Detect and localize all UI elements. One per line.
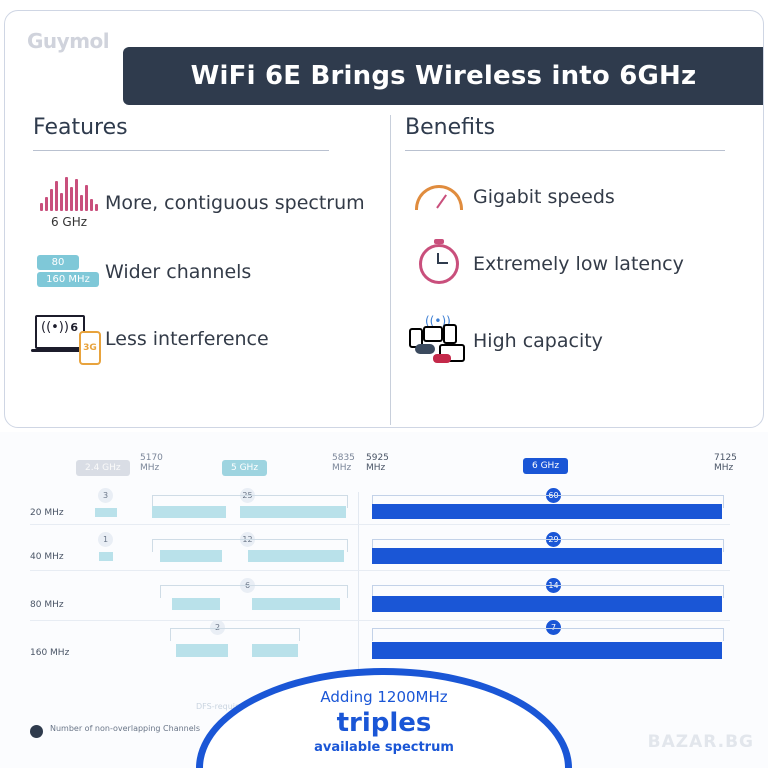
band-block-5a-80 xyxy=(172,598,220,610)
bracket-5ghz-80 xyxy=(160,585,348,598)
multi-device-icon: ((•)) xyxy=(405,318,473,364)
channel-chips: 80 160 MHz xyxy=(37,255,101,289)
band-block-24-20 xyxy=(95,508,117,517)
callout-line3: available spectrum xyxy=(196,740,572,755)
smartphone-orange-icon xyxy=(443,324,457,344)
stopwatch-icon xyxy=(405,244,473,284)
channel-width-icon: 80 160 MHz xyxy=(33,255,105,289)
feature-row-interference: ((•)) 6 3G Less interference xyxy=(33,315,373,363)
multi-device-glyph: ((•)) xyxy=(409,318,469,364)
bracket-6ghz-160 xyxy=(372,628,724,641)
legend-dot-icon xyxy=(30,725,43,738)
tablet-icon xyxy=(423,326,443,342)
gamepad-icon xyxy=(433,354,451,363)
benefits-column: Benefits Gigabit speeds Extremely low la… xyxy=(405,115,745,364)
band-block-5b-20 xyxy=(240,506,346,518)
phone-icon: 3G xyxy=(79,331,101,365)
band-block-6-20 xyxy=(372,504,722,519)
feature-label-channels: Wider channels xyxy=(105,261,251,284)
features-heading: Features xyxy=(33,115,329,151)
row-divider-3 xyxy=(30,620,730,621)
freq-mark-5170: 5170MHz xyxy=(140,454,163,474)
benefit-label-capacity: High capacity xyxy=(473,330,603,353)
watermark-bottom: BAZAR.BG xyxy=(648,732,754,752)
features-column: Features 6 GHz More, contiguous spectrum… xyxy=(33,115,373,363)
card-title-bar: WiFi 6E Brings Wireless into 6GHz xyxy=(123,47,764,105)
feature-label-interference: Less interference xyxy=(105,328,269,351)
row-divider-2 xyxy=(30,570,730,571)
band-block-24-40 xyxy=(99,552,113,561)
laptop-phone-interference-icon: ((•)) 6 3G xyxy=(33,315,105,363)
benefit-row-speed: Gigabit speeds xyxy=(405,185,745,210)
chart-legend: Number of non-overlapping Channels xyxy=(30,724,200,738)
spectrum-bars-glyph xyxy=(40,177,98,211)
row-label-160mhz: 160 MHz xyxy=(30,648,69,658)
benefit-row-capacity: ((•)) High capacity xyxy=(405,318,745,364)
row-divider-1 xyxy=(30,524,730,525)
count-badge-24-40: 1 xyxy=(98,532,113,547)
band-block-5b-80 xyxy=(252,598,340,610)
row-label-40mhz: 40 MHz xyxy=(30,552,64,562)
band-block-6-160 xyxy=(372,642,722,659)
band-pill-5ghz: 5 GHz xyxy=(222,460,267,476)
stopwatch-glyph xyxy=(419,244,459,284)
feature-row-channels: 80 160 MHz Wider channels xyxy=(33,255,373,289)
infographic-card: Guymol WiFi 6E Brings Wireless into 6GHz… xyxy=(4,10,764,428)
band-block-5a-160 xyxy=(176,644,228,657)
freq-mark-7125: 7125MHz xyxy=(714,454,737,474)
freq-mark-5925: 5925MHz xyxy=(366,454,389,474)
spectrum-chart: 2.4 GHz 5 GHz 6 GHz 5170MHz 5835MHz 5925… xyxy=(0,432,768,768)
band-block-6-80 xyxy=(372,596,722,612)
page-title: WiFi 6E Brings Wireless into 6GHz xyxy=(191,61,697,91)
column-divider xyxy=(390,115,391,425)
row-label-80mhz: 80 MHz xyxy=(30,600,64,610)
feature-row-spectrum: 6 GHz More, contiguous spectrum xyxy=(33,177,373,229)
benefit-row-latency: Extremely low latency xyxy=(405,244,745,284)
vr-headset-icon xyxy=(415,344,435,354)
speed-gauge-icon xyxy=(405,185,473,210)
device-group-glyph: ((•)) 6 3G xyxy=(35,315,103,363)
band-block-5a-20 xyxy=(152,506,226,518)
band-block-5b-160 xyxy=(252,644,298,657)
freq-mark-5835: 5835MHz xyxy=(332,454,355,474)
band-block-6-40 xyxy=(372,548,722,564)
benefits-heading: Benefits xyxy=(405,115,725,151)
wifi-signal-icon: ((•)) xyxy=(41,320,69,335)
callout-line2: triples xyxy=(196,708,572,738)
spectrum-caption: 6 GHz xyxy=(51,215,87,229)
benefit-label-speed: Gigabit speeds xyxy=(473,186,615,209)
band-pill-6ghz: 6 GHz xyxy=(523,458,568,474)
benefit-label-latency: Extremely low latency xyxy=(473,253,684,276)
feature-label-spectrum: More, contiguous spectrum xyxy=(105,192,365,215)
gauge-glyph xyxy=(415,185,463,210)
band-split-line xyxy=(358,492,359,687)
spectrum-bars-icon: 6 GHz xyxy=(33,177,105,229)
six-label-icon: 6 xyxy=(70,321,78,334)
band-block-5a-40 xyxy=(160,550,222,562)
legend-label: Number of non-overlapping Channels xyxy=(50,724,200,734)
channel-chip-160: 160 MHz xyxy=(37,272,99,287)
watermark-top: Guymol xyxy=(27,29,109,53)
bracket-5ghz-160 xyxy=(170,628,300,641)
callout-text: Adding 1200MHz triples available spectru… xyxy=(196,688,572,755)
channel-chip-80: 80 xyxy=(37,255,79,270)
count-badge-24-20: 3 xyxy=(98,488,113,503)
callout-line1: Adding 1200MHz xyxy=(196,688,572,706)
band-block-5b-40 xyxy=(248,550,344,562)
row-label-20mhz: 20 MHz xyxy=(30,508,64,518)
laptop-icon: ((•)) 6 xyxy=(35,315,85,349)
band-pill-2-4ghz: 2.4 GHz xyxy=(76,460,130,476)
